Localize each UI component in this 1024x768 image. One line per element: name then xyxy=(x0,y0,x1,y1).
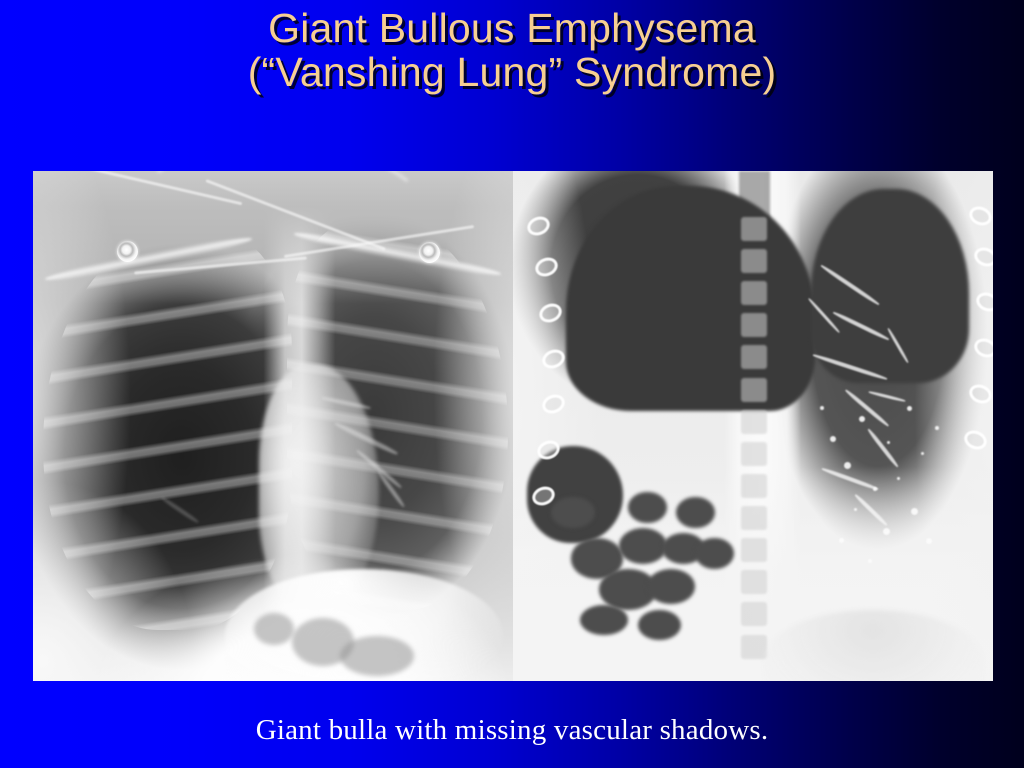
vessel-cross-section-icon xyxy=(830,436,836,442)
title-line-primary: Giant Bullous Emphysema xyxy=(0,6,1024,50)
vertebral-body-icon xyxy=(741,474,767,498)
bullous-cluster-icon xyxy=(676,497,714,528)
chest-radiograph-panel xyxy=(33,171,513,681)
ecg-electrode-icon xyxy=(117,241,138,262)
vertebral-body-icon xyxy=(741,345,767,369)
vertebral-body-icon xyxy=(741,506,767,530)
vertebral-body-icon xyxy=(741,570,767,594)
vertebral-body-icon xyxy=(741,249,767,273)
bullous-cluster-icon xyxy=(551,497,594,528)
vessel-cross-section-icon xyxy=(907,406,912,411)
medical-image-figure xyxy=(33,171,993,681)
liver-dome-icon xyxy=(763,610,984,681)
vessel-cross-section-icon xyxy=(926,538,932,544)
rib-cross-section-icon xyxy=(966,203,993,228)
bullous-cluster-icon xyxy=(580,605,628,636)
bullous-cluster-icon xyxy=(628,492,666,523)
vertebral-body-icon xyxy=(741,410,767,434)
figure-caption: Giant bulla with missing vascular shadow… xyxy=(0,714,1024,747)
vertebral-body-icon xyxy=(741,281,767,305)
bullous-cluster-icon xyxy=(619,528,667,564)
presentation-slide: Giant Bullous Emphysema (“Vanshing Lung”… xyxy=(0,0,1024,768)
vessel-cross-section-icon xyxy=(839,538,844,543)
title-line-secondary: (“Vanshing Lung” Syndrome) xyxy=(0,50,1024,94)
bowel-gas-icon xyxy=(340,636,414,676)
vessel-cross-section-icon xyxy=(859,416,865,422)
vessel-cross-section-icon xyxy=(887,441,890,444)
vessel-cross-section-icon xyxy=(873,487,877,491)
apical-bulla-right-icon xyxy=(811,189,969,383)
rib-cross-section-icon xyxy=(532,254,560,279)
rib-cross-section-icon xyxy=(539,346,567,371)
vertebral-body-icon xyxy=(741,217,767,241)
pulmonary-vessel-icon xyxy=(866,428,899,468)
vessel-cross-section-icon xyxy=(854,508,857,511)
vertebral-body-icon xyxy=(741,602,767,626)
ct-coronal-image xyxy=(513,171,993,681)
vessel-cross-section-icon xyxy=(883,528,890,535)
vessel-cross-section-icon xyxy=(897,477,900,480)
rib-cross-section-icon xyxy=(539,392,567,417)
vessel-cross-section-icon xyxy=(935,426,939,430)
rib-cross-section-icon xyxy=(537,300,565,325)
slide-title: Giant Bullous Emphysema (“Vanshing Lung”… xyxy=(0,6,1024,95)
rib-cross-section-icon xyxy=(971,336,993,361)
vertebral-body-icon xyxy=(741,442,767,466)
bullous-cluster-icon xyxy=(638,610,681,641)
pulmonary-vessel-icon xyxy=(868,391,906,403)
vertebral-body-icon xyxy=(741,313,767,337)
vessel-cross-section-icon xyxy=(868,559,872,563)
rib-cross-section-icon xyxy=(962,427,990,452)
chest-radiograph-image xyxy=(33,171,513,681)
giant-bulla-icon xyxy=(566,186,816,410)
vessel-cross-section-icon xyxy=(820,406,824,410)
bullous-cluster-icon xyxy=(695,538,733,569)
vertebral-body-icon xyxy=(741,538,767,562)
gastric-bubble-icon xyxy=(254,613,294,645)
pulmonary-vessel-icon xyxy=(854,493,888,526)
rib-cross-section-icon xyxy=(966,382,993,407)
rib-cross-section-icon xyxy=(971,244,993,269)
pulmonary-vessel-icon xyxy=(821,467,879,491)
vessel-cross-section-icon xyxy=(921,452,924,455)
bullous-cluster-icon xyxy=(647,569,695,605)
vessel-cross-section-icon xyxy=(844,462,851,469)
vessel-cross-section-icon xyxy=(911,508,918,515)
vertebral-body-icon xyxy=(741,378,767,402)
rib-cross-section-icon xyxy=(525,213,553,238)
ct-coronal-panel xyxy=(513,171,993,681)
rib-cross-section-icon xyxy=(974,290,993,315)
